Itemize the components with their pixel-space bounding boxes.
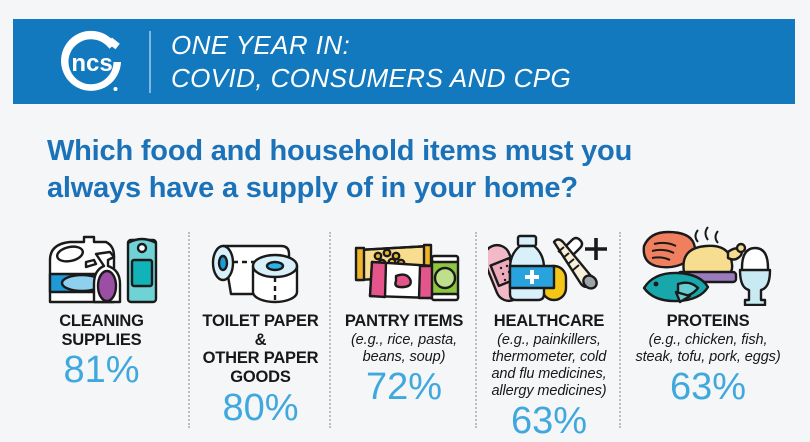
category-label-line: PANTRY ITEMS [345,312,463,331]
category-column-pantry-items: PANTRY ITEMS (e.g., rice, pasta, beans, … [331,228,477,406]
category-label: TOILET PAPER & OTHER PAPER GOODS [196,312,325,387]
header-divider [149,31,151,93]
category-label-line: TOILET PAPER & [196,312,325,349]
category-label-line: HEALTHCARE [494,312,604,331]
category-sublabel: (e.g., chicken, fish, steak, tofu, pork,… [635,332,780,366]
category-column-cleaning-supplies: CLEANING SUPPLIES 81% [13,228,190,389]
category-sublabel: (e.g., rice, pasta, beans, soup) [351,332,457,366]
toilet-paper-icon [209,228,313,306]
category-column-toilet-paper: TOILET PAPER & OTHER PAPER GOODS 80% [190,228,331,427]
header-title-line1: ONE YEAR IN: [171,29,571,62]
category-sublabel-line: thermometer, cold [491,349,606,366]
header-title: ONE YEAR IN: COVID, CONSUMERS AND CPG [171,29,571,95]
category-label: HEALTHCARE [494,312,604,331]
category-sublabel-line: (e.g., chicken, fish, [635,332,780,349]
category-label-line: GOODS [196,368,325,387]
category-percent: 63% [670,368,746,406]
healthcare-icon [488,228,610,306]
ncs-logo: ncs [53,26,131,98]
category-sublabel-line: and flu medicines, [491,366,606,383]
category-label-line: OTHER PAPER [196,349,325,368]
page-title-line2: always have a supply of in your home? [47,170,767,207]
category-label: CLEANING SUPPLIES [59,312,144,349]
category-column-proteins: PROTEINS (e.g., chicken, fish, steak, to… [621,228,795,406]
category-sublabel: (e.g., painkillers, thermometer, cold an… [491,332,606,400]
category-columns: CLEANING SUPPLIES 81% [13,228,795,433]
proteins-icon [638,228,778,306]
header-band: ncs ONE YEAR IN: COVID, CONSUMERS AND CP… [13,19,795,104]
ncs-logo-text: ncs [71,50,112,77]
page-title: Which food and household items must you … [47,133,767,207]
category-sublabel-line: beans, soup) [351,349,457,366]
category-label: PROTEINS [667,312,750,331]
category-sublabel-line: allergy medicines) [491,383,606,400]
category-percent: 81% [63,351,139,389]
category-sublabel-line: steak, tofu, pork, eggs) [635,349,780,366]
category-label-line: CLEANING [59,312,144,331]
category-column-healthcare: HEALTHCARE (e.g., painkillers, thermomet… [477,228,621,440]
category-sublabel-line: (e.g., rice, pasta, [351,332,457,349]
infographic-page: ncs ONE YEAR IN: COVID, CONSUMERS AND CP… [0,0,810,442]
category-percent: 72% [366,368,442,406]
header-title-line2: COVID, CONSUMERS AND CPG [171,62,571,95]
category-percent: 63% [511,402,587,440]
category-label-line: SUPPLIES [59,331,144,350]
category-sublabel-line: (e.g., painkillers, [491,332,606,349]
category-label: PANTRY ITEMS [345,312,463,331]
cleaning-supplies-icon [44,228,160,306]
page-title-line1: Which food and household items must you [47,133,767,170]
category-percent: 80% [222,389,298,427]
pantry-items-icon [348,228,460,306]
category-label-line: PROTEINS [667,312,750,331]
